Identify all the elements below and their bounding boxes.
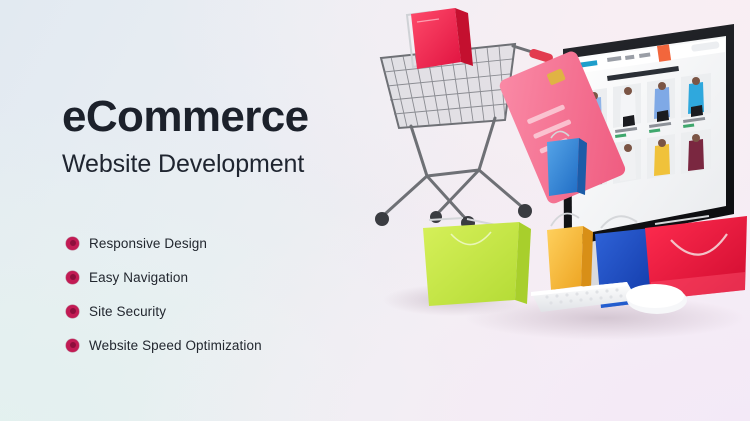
site-promo-badge: [657, 44, 671, 62]
list-item: Easy Navigation: [66, 265, 262, 289]
feature-label: Site Security: [89, 304, 166, 319]
feature-list: Responsive Design Easy Navigation Site S…: [66, 231, 262, 367]
pink-bag-in-cart: [407, 8, 473, 69]
bullet-icon: [66, 339, 79, 352]
bullet-icon: [66, 237, 79, 250]
cart-wheel: [430, 211, 442, 223]
cart-wheel: [518, 204, 532, 218]
list-item: Site Security: [66, 299, 262, 323]
bullet-icon: [66, 271, 79, 284]
feature-label: Website Speed Optimization: [89, 338, 262, 353]
green-bag: [423, 218, 531, 306]
ecommerce-banner: eCommerce Website Development Responsive…: [0, 0, 750, 421]
cart-legs: [385, 118, 521, 218]
list-item: Website Speed Optimization: [66, 333, 262, 357]
list-item: Responsive Design: [66, 231, 262, 255]
ecommerce-illustration: [355, 0, 750, 421]
bullet-icon: [66, 305, 79, 318]
cart-wheel: [375, 212, 389, 226]
feature-label: Easy Navigation: [89, 270, 188, 285]
feature-label: Responsive Design: [89, 236, 207, 251]
